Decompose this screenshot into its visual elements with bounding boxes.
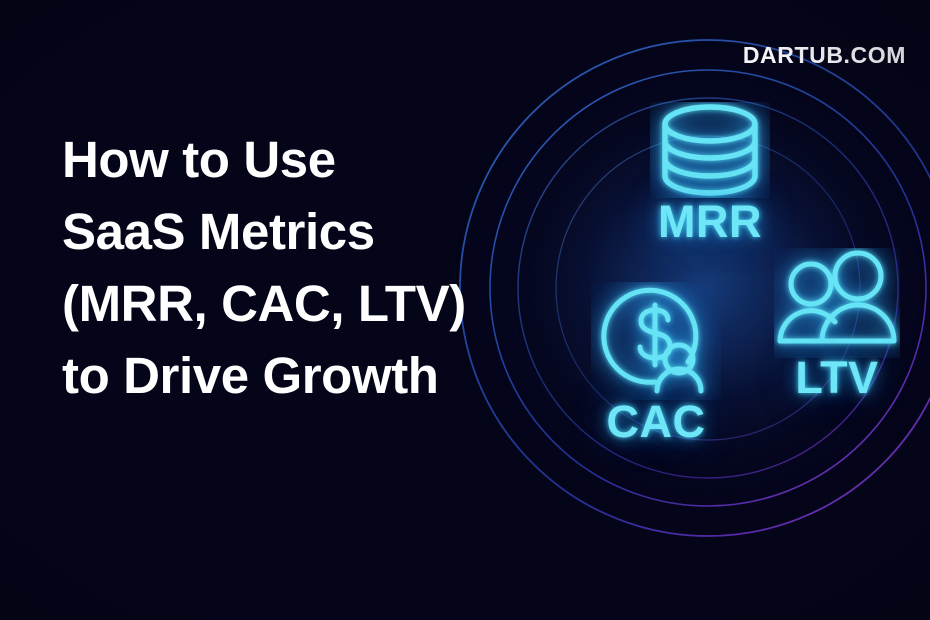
metric-cac: CAC: [556, 282, 756, 448]
page-title: How to Use SaaS Metrics (MRR, CAC, LTV) …: [62, 124, 502, 412]
poster-canvas: DARTUB.COM How to Use SaaS Metrics (MRR,…: [0, 0, 930, 620]
metric-label-cac: CAC: [607, 396, 706, 448]
metric-label-ltv: LTV: [795, 352, 878, 404]
metric-mrr: MRR: [600, 102, 820, 248]
metric-label-mrr: MRR: [658, 196, 762, 248]
metric-ltv: LTV: [742, 248, 930, 404]
two-people-group-icon: [774, 248, 900, 358]
site-watermark: DARTUB.COM: [743, 42, 906, 69]
dollar-circle-person-icon: [591, 282, 721, 400]
database-cylinder-icon: [650, 102, 770, 198]
